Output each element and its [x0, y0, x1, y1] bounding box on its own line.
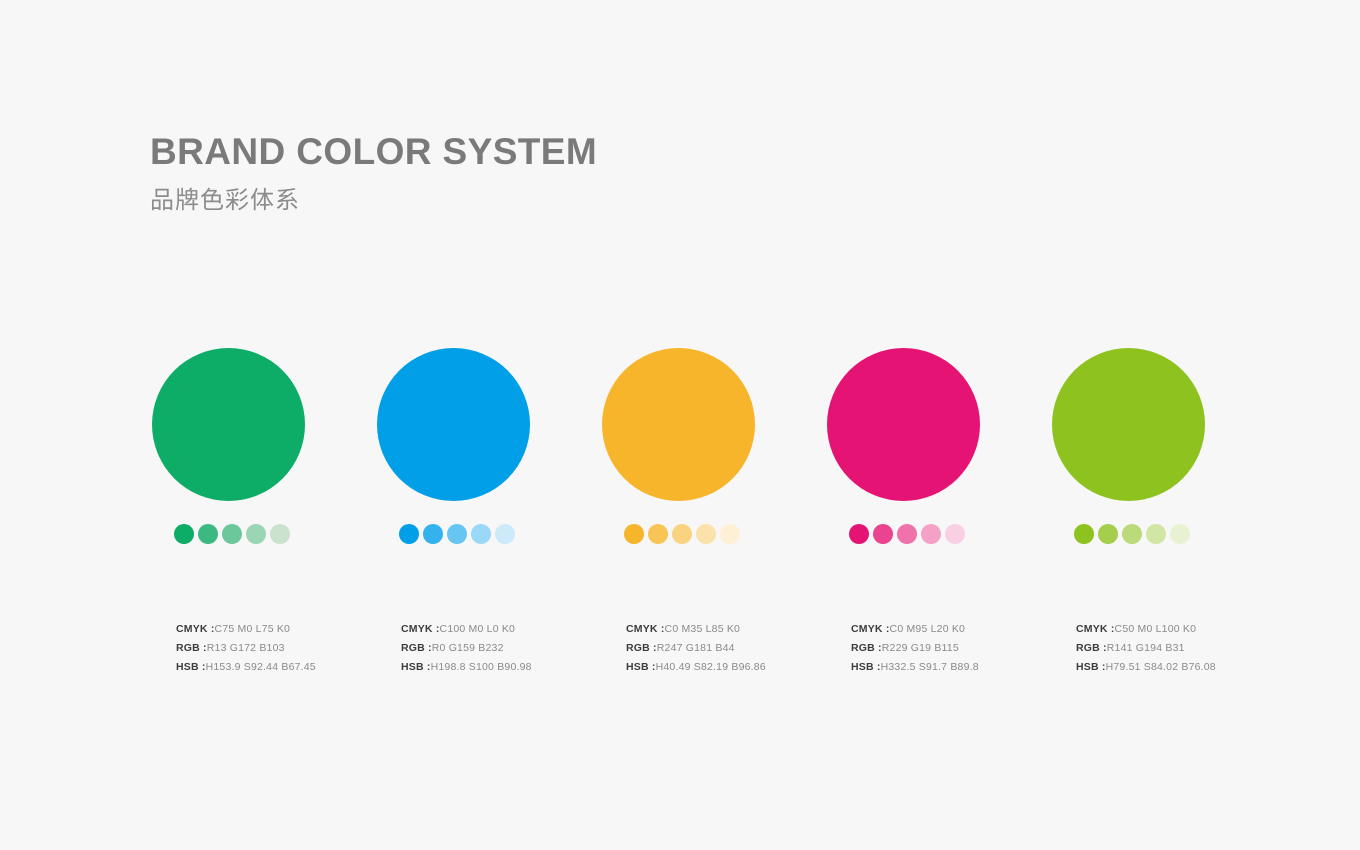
spec-line-cmyk: CMYK :C0 M35 L85 K0: [626, 620, 755, 639]
tint-row-lime: [1074, 524, 1190, 544]
tint-dot: [1074, 524, 1094, 544]
tint-row-magenta: [849, 524, 965, 544]
tint-dot: [1098, 524, 1118, 544]
tint-dot: [270, 524, 290, 544]
spec-column-green: CMYK :C75 M0 L75 K0 RGB :R13 G172 B103 H…: [152, 620, 305, 677]
spec-label-rgb: RGB :: [626, 642, 657, 654]
tint-dot: [897, 524, 917, 544]
spec-line-cmyk: CMYK :C50 M0 L100 K0: [1076, 620, 1205, 639]
tint-dot: [1170, 524, 1190, 544]
tint-dot: [648, 524, 668, 544]
tint-dot: [246, 524, 266, 544]
tint-row-orange: [624, 524, 740, 544]
tint-dot: [222, 524, 242, 544]
spec-value-rgb: R141 G194 B31: [1107, 642, 1185, 654]
main-color-circle-blue: [377, 348, 530, 501]
spec-line-hsb: HSB :H40.49 S82.19 B96.86: [626, 658, 755, 677]
swatch-column-green: [152, 348, 305, 544]
page-header: BRAND COLOR SYSTEM 品牌色彩体系: [150, 130, 597, 217]
spec-label-cmyk: CMYK :: [1076, 623, 1115, 635]
spec-value-cmyk: C100 M0 L0 K0: [440, 623, 516, 635]
page-subtitle: 品牌色彩体系: [150, 183, 597, 217]
tint-dot: [672, 524, 692, 544]
spec-value-hsb: H332.5 S91.7 B89.8: [881, 661, 979, 673]
spec-label-cmyk: CMYK :: [176, 623, 215, 635]
spec-line-hsb: HSB :H198.8 S100 B90.98: [401, 658, 530, 677]
spec-line-hsb: HSB :H153.9 S92.44 B67.45: [176, 658, 305, 677]
spec-value-hsb: H198.8 S100 B90.98: [431, 661, 532, 673]
tint-dot: [849, 524, 869, 544]
spec-value-hsb: H40.49 S82.19 B96.86: [656, 661, 766, 673]
tint-dot: [945, 524, 965, 544]
main-color-circle-lime: [1052, 348, 1205, 501]
spec-label-rgb: RGB :: [851, 642, 882, 654]
spec-label-cmyk: CMYK :: [401, 623, 440, 635]
swatch-column-blue: [377, 348, 530, 544]
spec-label-hsb: HSB :: [1076, 661, 1106, 673]
spec-label-rgb: RGB :: [401, 642, 432, 654]
spec-label-hsb: HSB :: [626, 661, 656, 673]
spec-line-hsb: HSB :H332.5 S91.7 B89.8: [851, 658, 980, 677]
spec-value-cmyk: C75 M0 L75 K0: [215, 623, 291, 635]
spec-line-rgb: RGB :R229 G19 B115: [851, 639, 980, 658]
spec-value-hsb: H153.9 S92.44 B67.45: [206, 661, 316, 673]
page-title: BRAND COLOR SYSTEM: [150, 130, 597, 174]
spec-label-rgb: RGB :: [176, 642, 207, 654]
tint-dot: [198, 524, 218, 544]
spec-line-cmyk: CMYK :C75 M0 L75 K0: [176, 620, 305, 639]
spec-value-cmyk: C0 M95 L20 K0: [890, 623, 966, 635]
swatch-column-orange: [602, 348, 755, 544]
brand-color-system-page: BRAND COLOR SYSTEM 品牌色彩体系: [0, 0, 1360, 850]
spec-label-hsb: HSB :: [851, 661, 881, 673]
spec-value-hsb: H79.51 S84.02 B76.08: [1106, 661, 1216, 673]
tint-dot: [471, 524, 491, 544]
tint-dot: [174, 524, 194, 544]
spec-value-rgb: R0 G159 B232: [432, 642, 504, 654]
spec-line-rgb: RGB :R141 G194 B31: [1076, 639, 1205, 658]
tint-row-blue: [399, 524, 515, 544]
spec-line-rgb: RGB :R0 G159 B232: [401, 639, 530, 658]
tint-dot: [1146, 524, 1166, 544]
tint-dot: [873, 524, 893, 544]
spec-value-cmyk: C0 M35 L85 K0: [665, 623, 741, 635]
tint-dot: [495, 524, 515, 544]
tint-dot: [423, 524, 443, 544]
tint-dot: [1122, 524, 1142, 544]
tint-dot: [921, 524, 941, 544]
tint-dot: [720, 524, 740, 544]
spec-column-blue: CMYK :C100 M0 L0 K0 RGB :R0 G159 B232 HS…: [377, 620, 530, 677]
swatch-column-magenta: [827, 348, 980, 544]
spec-line-rgb: RGB :R13 G172 B103: [176, 639, 305, 658]
spec-label-hsb: HSB :: [401, 661, 431, 673]
spec-line-rgb: RGB :R247 G181 B44: [626, 639, 755, 658]
color-palette-row: [152, 348, 1208, 544]
main-color-circle-orange: [602, 348, 755, 501]
main-color-circle-magenta: [827, 348, 980, 501]
tint-dot: [447, 524, 467, 544]
spec-label-cmyk: CMYK :: [626, 623, 665, 635]
tint-dot: [399, 524, 419, 544]
tint-dot: [696, 524, 716, 544]
tint-dot: [624, 524, 644, 544]
spec-column-lime: CMYK :C50 M0 L100 K0 RGB :R141 G194 B31 …: [1052, 620, 1205, 677]
swatch-column-lime: [1052, 348, 1205, 544]
spec-label-cmyk: CMYK :: [851, 623, 890, 635]
tint-row-green: [174, 524, 290, 544]
color-specs-row: CMYK :C75 M0 L75 K0 RGB :R13 G172 B103 H…: [152, 620, 1208, 677]
spec-value-cmyk: C50 M0 L100 K0: [1115, 623, 1197, 635]
spec-value-rgb: R229 G19 B115: [882, 642, 959, 654]
spec-line-cmyk: CMYK :C0 M95 L20 K0: [851, 620, 980, 639]
spec-column-magenta: CMYK :C0 M95 L20 K0 RGB :R229 G19 B115 H…: [827, 620, 980, 677]
main-color-circle-green: [152, 348, 305, 501]
spec-value-rgb: R13 G172 B103: [207, 642, 285, 654]
spec-label-hsb: HSB :: [176, 661, 206, 673]
spec-line-cmyk: CMYK :C100 M0 L0 K0: [401, 620, 530, 639]
spec-value-rgb: R247 G181 B44: [657, 642, 735, 654]
spec-column-orange: CMYK :C0 M35 L85 K0 RGB :R247 G181 B44 H…: [602, 620, 755, 677]
spec-label-rgb: RGB :: [1076, 642, 1107, 654]
spec-line-hsb: HSB :H79.51 S84.02 B76.08: [1076, 658, 1205, 677]
